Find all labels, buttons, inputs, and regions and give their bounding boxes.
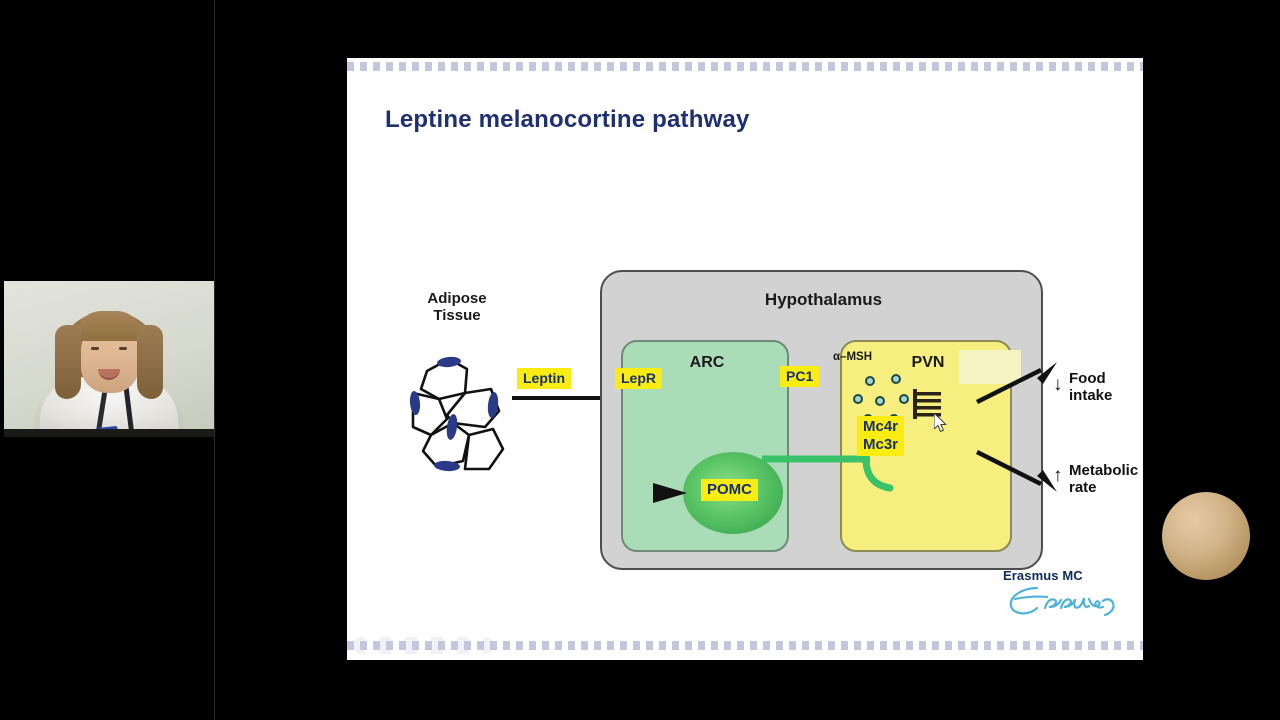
hypothalamus-label: Hypothalamus bbox=[602, 290, 1045, 310]
metabolic-rate-arrow bbox=[975, 448, 1061, 496]
adipose-label-line2: Tissue bbox=[433, 307, 480, 324]
food-intake-line1: Food bbox=[1069, 370, 1106, 387]
erasmus-mc-logo: Erasmus MC bbox=[1003, 568, 1123, 624]
adipocyte-cluster-icon bbox=[409, 353, 509, 478]
metabolic-rate-text: Metabolic rate bbox=[1069, 463, 1138, 497]
adipose-tissue-label: Adipose Tissue bbox=[402, 290, 512, 325]
pathway-figure: Adipose Tissue bbox=[387, 208, 1117, 608]
vesicle bbox=[865, 376, 875, 386]
food-intake-text: Food intake bbox=[1069, 371, 1112, 405]
left-column-divider bbox=[214, 0, 215, 720]
pc1-label: PC1 bbox=[780, 366, 819, 387]
video-letterbox-bottom bbox=[4, 429, 214, 437]
food-intake-arrow bbox=[975, 358, 1061, 406]
vesicle bbox=[899, 394, 909, 404]
vesicle bbox=[891, 374, 901, 384]
presenter-hair-right bbox=[137, 325, 163, 399]
leptin-label: Leptin bbox=[517, 368, 571, 389]
slide-canvas[interactable]: Leptine melanocortine pathway Adipose Ti… bbox=[347, 58, 1143, 660]
lepr-binding-arrow bbox=[653, 480, 689, 506]
slide-title: Leptine melanocortine pathway bbox=[385, 106, 750, 134]
erasmus-signature-icon bbox=[1003, 584, 1123, 622]
slide-bottom-ghost-marks bbox=[353, 637, 493, 654]
slide-top-dotted-border bbox=[347, 62, 1143, 71]
presenter-eye-right bbox=[119, 347, 127, 350]
presenter-video-panel[interactable] bbox=[4, 281, 214, 437]
mc4r-label: Mc4r bbox=[863, 418, 898, 435]
food-intake-line2: intake bbox=[1069, 387, 1112, 404]
alpha-msh-label: α–MSH bbox=[833, 351, 872, 363]
presenter-eye-left bbox=[91, 347, 99, 350]
lepr-label: LepR bbox=[615, 368, 662, 389]
mouse-pointer-icon bbox=[934, 413, 948, 433]
food-intake-down-arrow: ↓ bbox=[1053, 375, 1063, 394]
erasmus-mc-logo-text: Erasmus MC bbox=[1003, 568, 1123, 583]
mc3r-label: Mc3r bbox=[863, 436, 898, 453]
vesicle bbox=[853, 394, 863, 404]
vesicle bbox=[875, 396, 885, 406]
presenter-hair-top bbox=[76, 311, 142, 341]
pomc-axon bbox=[762, 452, 870, 466]
adipose-label-line1: Adipose bbox=[427, 290, 486, 307]
pvn-neuron bbox=[1162, 492, 1250, 580]
pomc-label: POMC bbox=[701, 479, 758, 501]
mc-receptor-label: Mc4r Mc3r bbox=[857, 416, 904, 456]
player-root: Leptine melanocortine pathway Adipose Ti… bbox=[0, 0, 1280, 720]
presenter-hair-left bbox=[55, 325, 81, 399]
metabolic-rate-line2: rate bbox=[1069, 479, 1097, 496]
metabolic-rate-up-arrow: ↑ bbox=[1053, 466, 1063, 485]
hypothalamus-box: Hypothalamus ARC POMC PVN bbox=[600, 270, 1043, 570]
metabolic-rate-line1: Metabolic bbox=[1069, 462, 1138, 479]
